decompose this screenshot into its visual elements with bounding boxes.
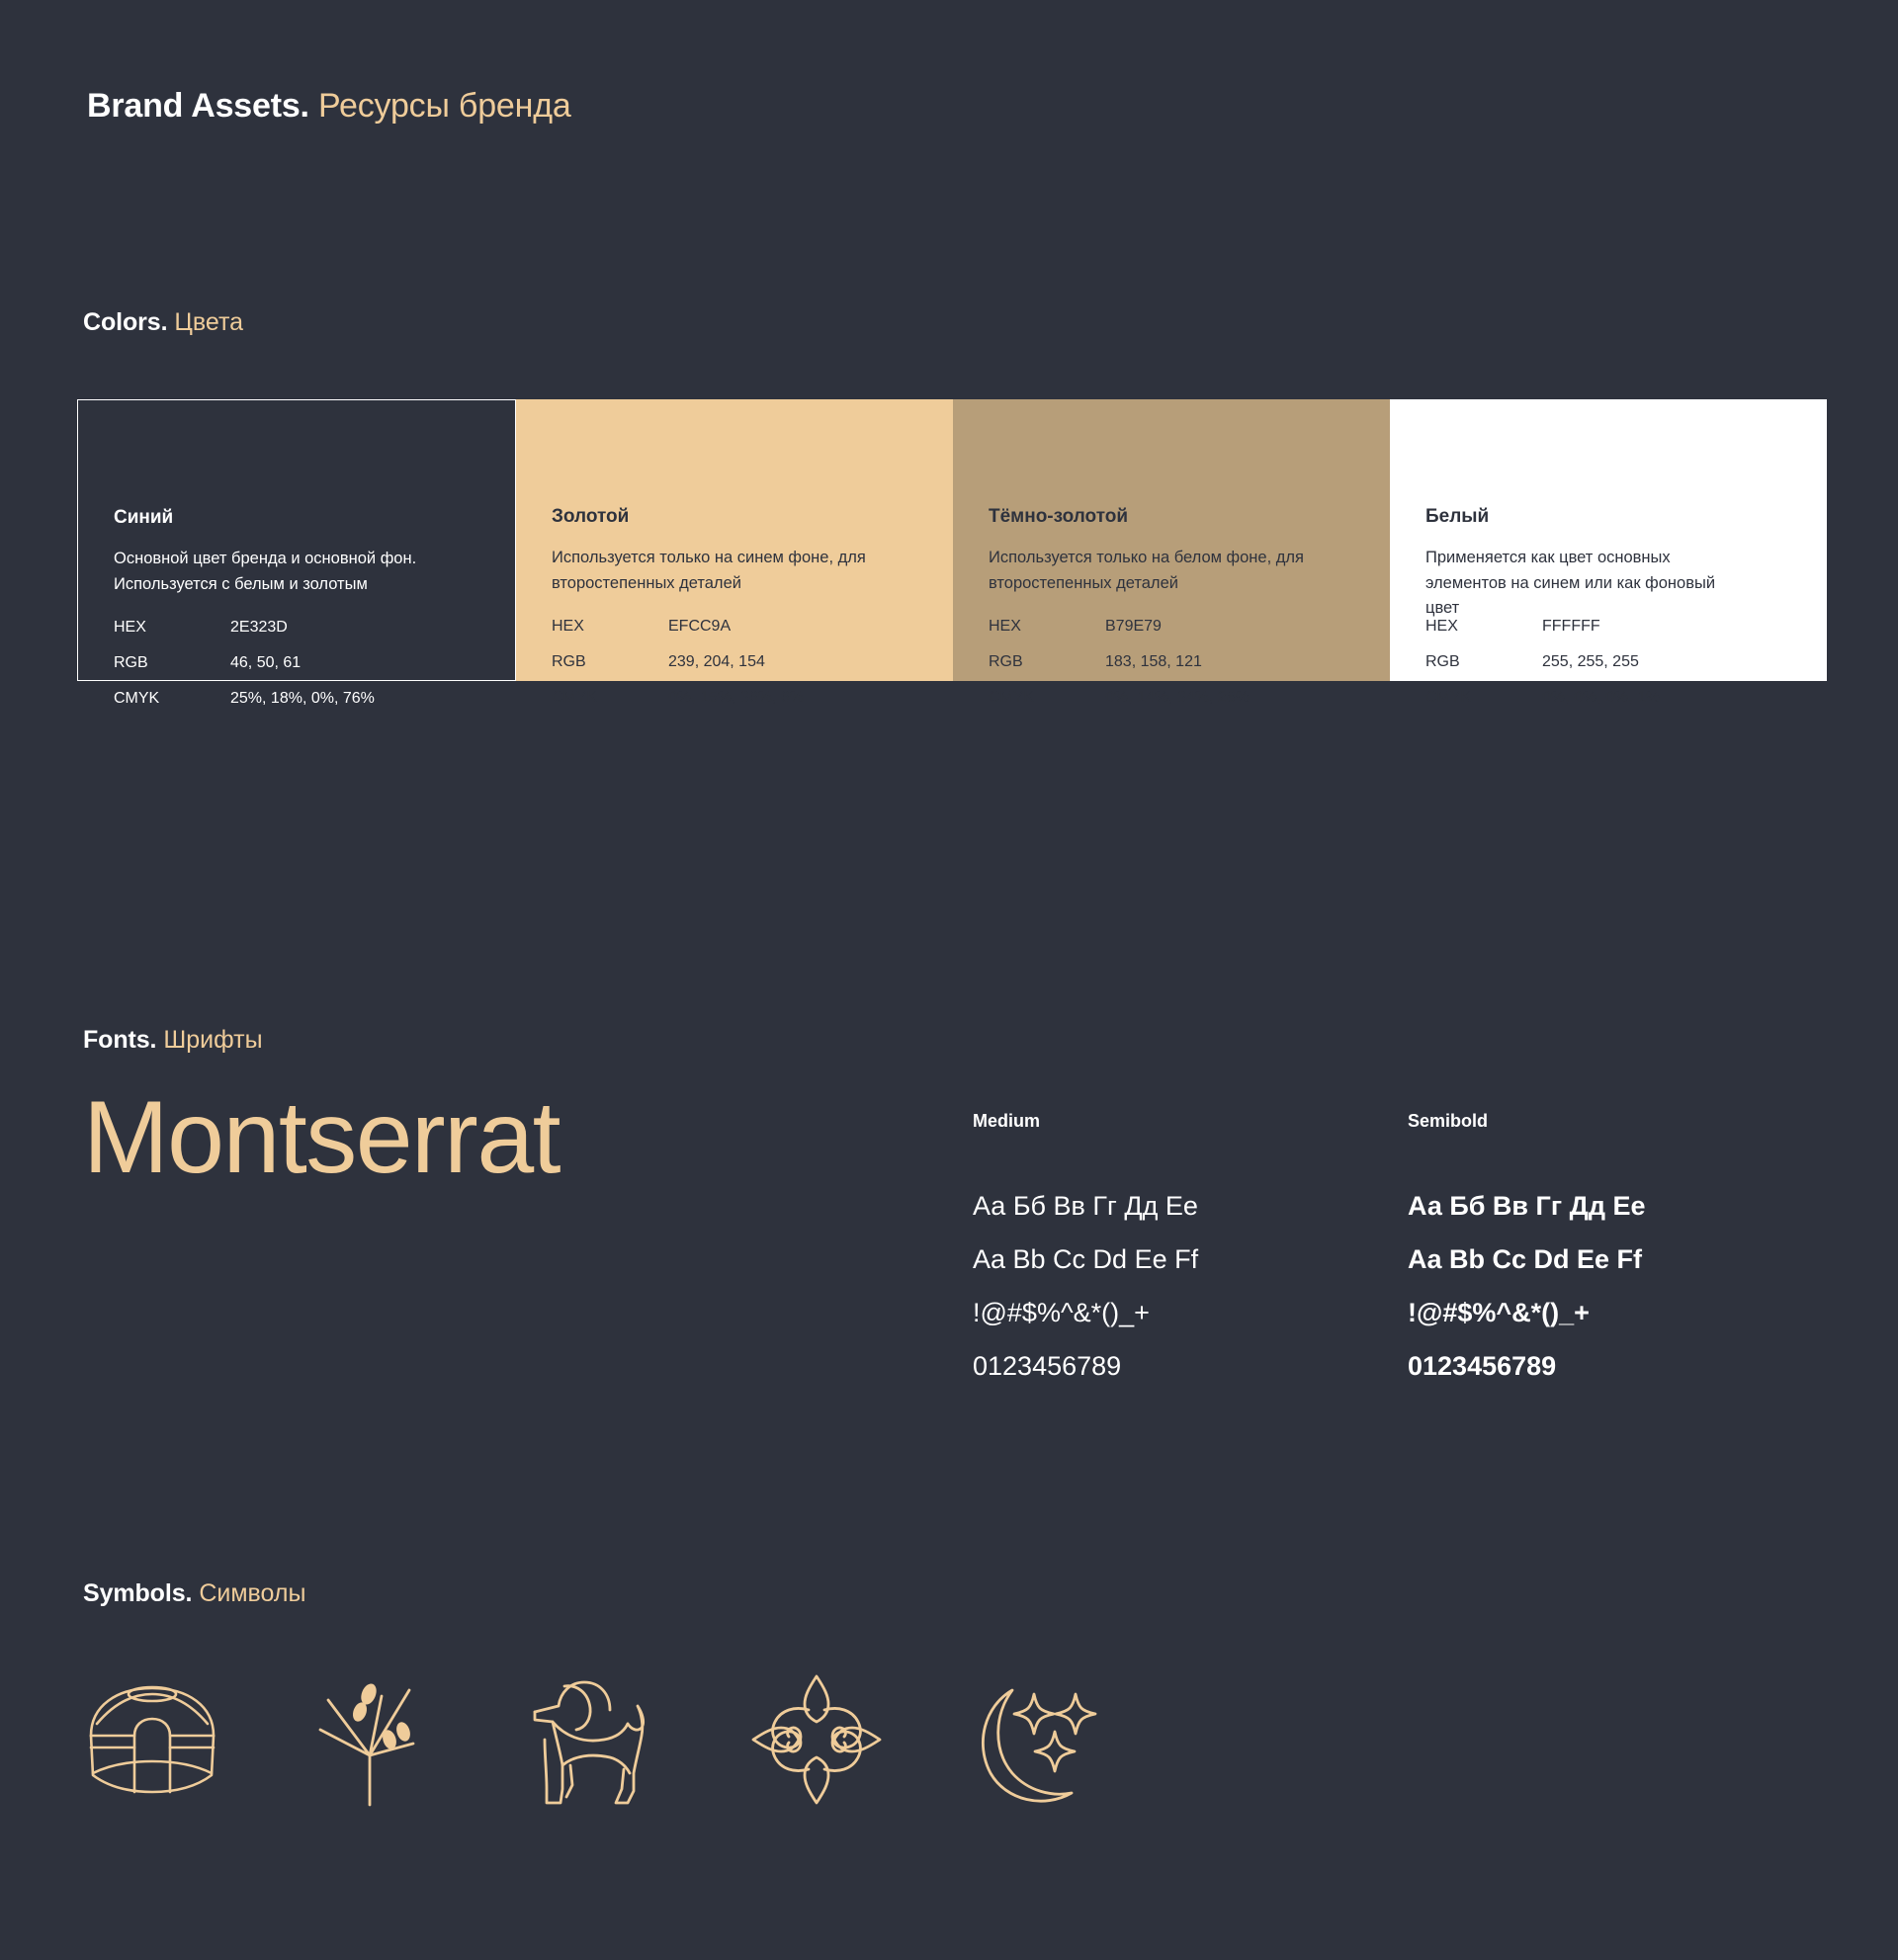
ram-icon [531, 1670, 659, 1809]
rgb-label: RGB [114, 645, 230, 681]
swatch-rgb-row: RGB 239, 204, 154 [552, 644, 917, 680]
color-swatch-white[interactable]: Белый Применяется как цвет основных элем… [1390, 399, 1827, 681]
section-title-fonts: Fonts. Шрифты [83, 1026, 263, 1055]
specimen-line-symbols: !@#$%^&*()_+ [1408, 1286, 1645, 1339]
yurt-icon [83, 1680, 221, 1799]
rgb-value: 239, 204, 154 [668, 644, 917, 680]
cmyk-value: 25%, 18%, 0%, 76% [230, 681, 479, 717]
swatch-values: HEX B79E79 RGB 183, 158, 121 CMYK 0%, 14… [989, 609, 1354, 716]
section-title-fonts-en: Fonts. [83, 1026, 156, 1054]
font-specimen-semibold: Semibold Аа Бб Вв Гг Дд Ее Aa Bb Cc Dd E… [1408, 1111, 1645, 1393]
section-title-colors-ru: Цвета [174, 308, 243, 336]
section-title-symbols-ru: Символы [199, 1579, 305, 1607]
section-title-colors-en: Colors. [83, 308, 167, 336]
swatch-description: Используется только на синем фоне, для в… [552, 546, 868, 596]
swatch-hex-row: HEX 2E323D [114, 610, 479, 645]
hex-label: HEX [1425, 609, 1542, 644]
page-title-ru: Ресурсы бренда [318, 87, 571, 125]
swatch-hex-row: HEX EFCC9A [552, 609, 917, 644]
cmyk-label: CMYK [1425, 680, 1542, 716]
font-specimen-medium: Medium Аа Бб Вв Гг Дд Ее Aa Bb Cc Dd Ee … [973, 1111, 1198, 1393]
symbol-moon-stars[interactable] [969, 1641, 1107, 1838]
color-swatch-blue[interactable]: Синий Основной цвет бренда и основной фо… [77, 399, 516, 681]
swatch-rgb-row: RGB 183, 158, 121 [989, 644, 1354, 680]
swatch-values: HEX 2E323D RGB 46, 50, 61 CMYK 25%, 18%,… [114, 610, 479, 717]
brand-assets-page: Brand Assets. Ресурсы бренда Colors. Цве… [0, 0, 1898, 1960]
specimen-line-latin: Aa Bb Cc Dd Ee Ff [1408, 1233, 1645, 1286]
rgb-value: 183, 158, 121 [1105, 644, 1354, 680]
symbol-ram[interactable] [526, 1641, 664, 1838]
cmyk-label: CMYK [114, 681, 230, 717]
swatch-cmyk-row: CMYK 25%, 18%, 0%, 76% [114, 681, 479, 717]
swatch-description: Основной цвет бренда и основной фон. Исп… [114, 547, 430, 597]
rgb-value: 46, 50, 61 [230, 645, 479, 681]
symbol-branch[interactable] [304, 1641, 443, 1838]
swatch-values: HEX FFFFFF RGB 255, 255, 255 CMYK 0%, 0%… [1425, 609, 1791, 716]
swatch-cmyk-row: CMYK 0%, 14%, 34%, 28% [989, 680, 1354, 716]
hex-label: HEX [114, 610, 230, 645]
swatch-name: Белый [1425, 506, 1791, 528]
moon-stars-icon [969, 1670, 1107, 1809]
specimen-line-symbols: !@#$%^&*()_+ [973, 1286, 1198, 1339]
swatch-rgb-row: RGB 46, 50, 61 [114, 645, 479, 681]
specimen-weight-label: Semibold [1408, 1111, 1645, 1132]
swatch-name: Тёмно-золотой [989, 506, 1354, 528]
branch-icon [314, 1670, 433, 1809]
hex-value: EFCC9A [668, 609, 917, 644]
color-swatch-gold[interactable]: Золотой Используется только на синем фон… [516, 399, 953, 681]
specimen-line-numerals: 0123456789 [973, 1339, 1198, 1393]
color-swatch-dark-gold[interactable]: Тёмно-золотой Используется только на бел… [953, 399, 1390, 681]
symbol-ornament[interactable] [747, 1641, 886, 1838]
ornament-icon [747, 1670, 886, 1809]
cmyk-value: 0%, 14%, 34%, 28% [1105, 680, 1354, 716]
symbols-row [83, 1641, 1107, 1838]
hex-value: 2E323D [230, 610, 479, 645]
cmyk-label: CMYK [552, 680, 668, 716]
specimen-line-numerals: 0123456789 [1408, 1339, 1645, 1393]
section-title-fonts-ru: Шрифты [163, 1026, 262, 1054]
rgb-label: RGB [989, 644, 1105, 680]
cmyk-value: 0%, 0%, 0%, 1% [1542, 680, 1791, 716]
swatch-cmyk-row: CMYK 0%, 0%, 0%, 1% [1425, 680, 1791, 716]
color-swatch-strip: Синий Основной цвет бренда и основной фо… [77, 399, 1827, 681]
rgb-value: 255, 255, 255 [1542, 644, 1791, 680]
section-title-symbols: Symbols. Символы [83, 1579, 305, 1608]
hex-value: FFFFFF [1542, 609, 1791, 644]
hex-label: HEX [989, 609, 1105, 644]
section-title-symbols-en: Symbols. [83, 1579, 192, 1607]
specimen-line-cyrillic: Аа Бб Вв Гг Дд Ее [973, 1179, 1198, 1233]
symbol-yurt[interactable] [83, 1641, 221, 1838]
cmyk-label: CMYK [989, 680, 1105, 716]
page-title: Brand Assets. Ресурсы бренда [87, 87, 571, 126]
hex-label: HEX [552, 609, 668, 644]
swatch-name: Золотой [552, 506, 917, 528]
swatch-values: HEX EFCC9A RGB 239, 204, 154 CMYK 0%, 15… [552, 609, 917, 716]
specimen-weight-label: Medium [973, 1111, 1198, 1132]
swatch-hex-row: HEX B79E79 [989, 609, 1354, 644]
swatch-description: Используется только на белом фоне, для в… [989, 546, 1305, 596]
swatch-hex-row: HEX FFFFFF [1425, 609, 1791, 644]
swatch-name: Синий [114, 507, 479, 529]
swatch-rgb-row: RGB 255, 255, 255 [1425, 644, 1791, 680]
font-family-display: Montserrat [83, 1079, 560, 1197]
rgb-label: RGB [1425, 644, 1542, 680]
page-title-en: Brand Assets. [87, 87, 309, 125]
specimen-line-cyrillic: Аа Бб Вв Гг Дд Ее [1408, 1179, 1645, 1233]
cmyk-value: 0%, 15%, 36%, 6% [668, 680, 917, 716]
hex-value: B79E79 [1105, 609, 1354, 644]
specimen-line-latin: Aa Bb Cc Dd Ee Ff [973, 1233, 1198, 1286]
section-title-colors: Colors. Цвета [83, 308, 243, 337]
swatch-cmyk-row: CMYK 0%, 15%, 36%, 6% [552, 680, 917, 716]
rgb-label: RGB [552, 644, 668, 680]
